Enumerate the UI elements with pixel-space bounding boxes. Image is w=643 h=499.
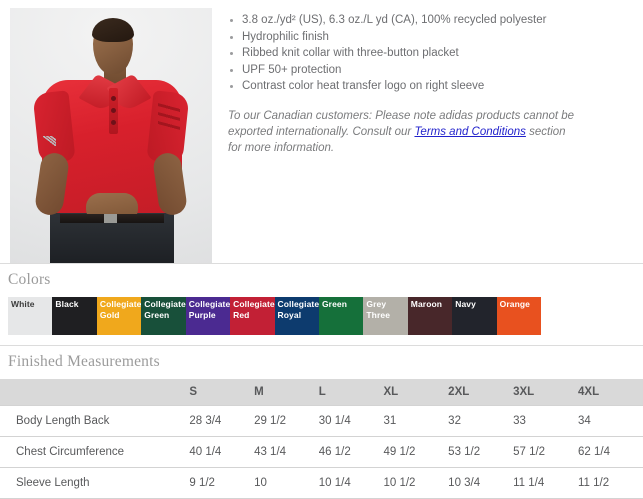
shoulder-stripes — [158, 94, 180, 138]
spec-bullet-list: 3.8 oz./yd² (US), 6.3 oz./L yd (CA), 100… — [228, 12, 635, 95]
measurement-row-label: Chest Circumference — [0, 437, 189, 468]
color-swatch-collegiate-royal[interactable]: Collegiate Royal — [275, 297, 319, 335]
product-overview: 3.8 oz./yd² (US), 6.3 oz./L yd (CA), 100… — [0, 0, 643, 263]
measurement-cell: 32 — [448, 406, 513, 437]
measurements-table-body: Body Length Back 28 3/4 29 1/2 30 1/4 31… — [0, 406, 643, 499]
color-swatch-black[interactable]: Black — [52, 297, 96, 335]
model-photo — [10, 8, 212, 263]
color-swatch-label: Grey Three — [366, 299, 406, 320]
color-swatch-green[interactable]: Green — [319, 297, 363, 335]
measurement-cell: 28 3/4 — [189, 406, 254, 437]
color-swatch-label: Navy — [455, 299, 495, 310]
terms-and-conditions-link[interactable]: Terms and Conditions — [414, 126, 525, 138]
measurements-col-header-l: L — [319, 379, 384, 406]
color-swatch-navy[interactable]: Navy — [452, 297, 496, 335]
measurement-row-label: Sleeve Length — [0, 468, 189, 499]
color-swatch-orange[interactable]: Orange — [497, 297, 541, 335]
spec-bullet: Contrast color heat transfer logo on rig… — [228, 78, 635, 95]
color-swatch-label: Collegiate Green — [144, 299, 184, 320]
spec-bullet: UPF 50+ protection — [228, 62, 635, 79]
finished-measurements-table: S M L XL 2XL 3XL 4XL Body Length Back 28… — [0, 379, 643, 499]
table-row: Body Length Back 28 3/4 29 1/2 30 1/4 31… — [0, 406, 643, 437]
measurement-cell: 30 1/4 — [319, 406, 384, 437]
color-swatch-grey-three[interactable]: Grey Three — [363, 297, 407, 335]
spec-column: 3.8 oz./yd² (US), 6.3 oz./L yd (CA), 100… — [212, 8, 643, 167]
measurement-cell: 57 1/2 — [513, 437, 578, 468]
measurement-cell: 40 1/4 — [189, 437, 254, 468]
measurements-col-header-3xl: 3XL — [513, 379, 578, 406]
color-swatch-label: Green — [322, 299, 362, 310]
color-swatch-label: Black — [55, 299, 95, 310]
measurement-cell: 62 1/4 — [578, 437, 643, 468]
measurement-cell: 29 1/2 — [254, 406, 319, 437]
measurements-col-header-xl: XL — [383, 379, 448, 406]
measurement-cell: 10 3/4 — [448, 468, 513, 499]
measurements-col-header-2xl: 2XL — [448, 379, 513, 406]
color-swatch-label: Collegiate Royal — [278, 299, 318, 320]
measurement-cell: 10 1/2 — [383, 468, 448, 499]
spec-bullet: Hydrophilic finish — [228, 29, 635, 46]
colors-heading: Colors — [0, 264, 643, 297]
adidas-logo-icon — [43, 136, 56, 146]
measurements-col-header-4xl: 4XL — [578, 379, 643, 406]
color-swatch-collegiate-purple[interactable]: Collegiate Purple — [186, 297, 230, 335]
placket-button-3 — [111, 120, 116, 125]
measurements-col-header-s: S — [189, 379, 254, 406]
color-swatch-label: Collegiate Red — [233, 299, 273, 320]
canadian-customers-note: To our Canadian customers: Please note a… — [228, 108, 576, 156]
measurement-cell: 11 1/4 — [513, 468, 578, 499]
product-detail-page: { "product_image": { "alt": "male-model-… — [0, 0, 643, 492]
measurement-cell: 10 — [254, 468, 319, 499]
measurement-cell: 34 — [578, 406, 643, 437]
placket-button-1 — [111, 96, 116, 101]
color-swatch-row: White Black Collegiate Gold Collegiate G… — [8, 297, 541, 335]
color-swatch-label: Orange — [500, 299, 540, 310]
measurements-table-head: S M L XL 2XL 3XL 4XL — [0, 379, 643, 406]
measurements-col-header-blank — [0, 379, 189, 406]
color-swatch-collegiate-red[interactable]: Collegiate Red — [230, 297, 274, 335]
color-swatch-maroon[interactable]: Maroon — [408, 297, 452, 335]
color-swatch-label: Collegiate Gold — [100, 299, 140, 320]
measurements-header-row: S M L XL 2XL 3XL 4XL — [0, 379, 643, 406]
color-swatch-collegiate-green[interactable]: Collegiate Green — [141, 297, 185, 335]
measurement-cell: 49 1/2 — [383, 437, 448, 468]
measurement-cell: 9 1/2 — [189, 468, 254, 499]
color-swatch-white[interactable]: White — [8, 297, 52, 335]
spec-bullet: Ribbed knit collar with three-button pla… — [228, 45, 635, 62]
measurement-row-label: Body Length Back — [0, 406, 189, 437]
measurement-cell: 46 1/2 — [319, 437, 384, 468]
measurement-cell: 31 — [383, 406, 448, 437]
measurement-cell: 33 — [513, 406, 578, 437]
color-swatch-label: Collegiate Purple — [189, 299, 229, 320]
product-image[interactable] — [10, 8, 212, 263]
measurements-col-header-m: M — [254, 379, 319, 406]
measurements-heading: Finished Measurements — [0, 346, 643, 379]
belt-buckle — [104, 214, 117, 223]
placket-button-2 — [111, 108, 116, 113]
spec-bullet: 3.8 oz./yd² (US), 6.3 oz./L yd (CA), 100… — [228, 12, 635, 29]
color-swatch-label: Maroon — [411, 299, 451, 310]
table-row: Sleeve Length 9 1/2 10 10 1/4 10 1/2 10 … — [0, 468, 643, 499]
color-swatch-label: White — [11, 299, 51, 310]
color-swatch-collegiate-gold[interactable]: Collegiate Gold — [97, 297, 141, 335]
measurement-cell: 53 1/2 — [448, 437, 513, 468]
measurement-cell: 11 1/2 — [578, 468, 643, 499]
measurement-cell: 10 1/4 — [319, 468, 384, 499]
table-row: Chest Circumference 40 1/4 43 1/4 46 1/2… — [0, 437, 643, 468]
measurement-cell: 43 1/4 — [254, 437, 319, 468]
